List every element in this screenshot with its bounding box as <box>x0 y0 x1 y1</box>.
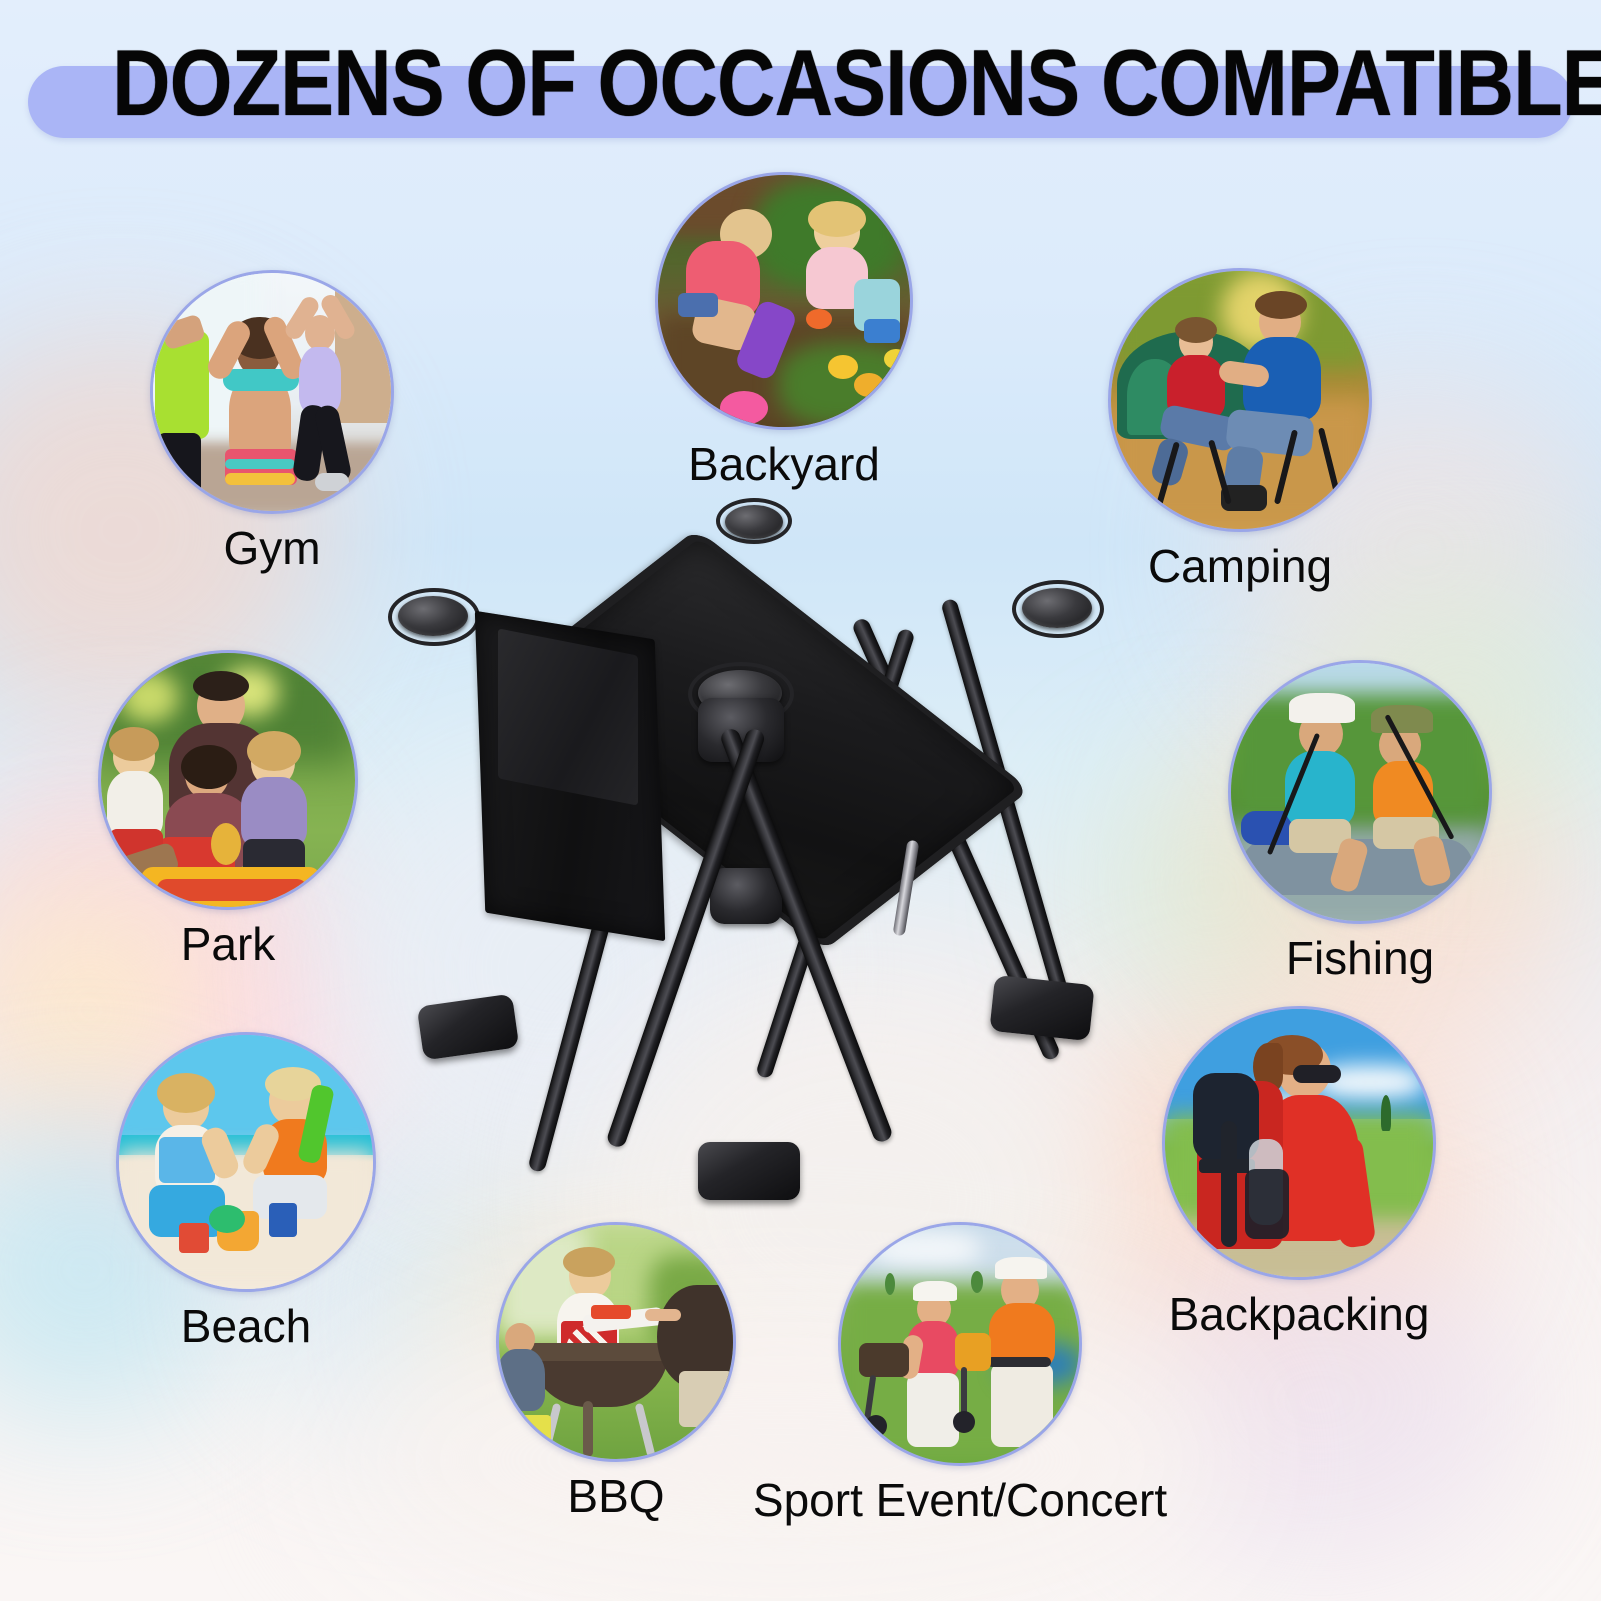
occasion-backyard[interactable]: Backyard <box>655 172 913 430</box>
caption-gym: Gym <box>223 522 320 574</box>
caption-backyard: Backyard <box>688 438 880 490</box>
caption-backpacking: Backpacking <box>1169 1288 1430 1340</box>
stool-corner-ring-right <box>1012 580 1104 638</box>
caption-bbq: BBQ <box>567 1470 664 1522</box>
backyard-photo <box>655 172 913 430</box>
occasion-beach[interactable]: Beach <box>116 1032 376 1292</box>
stool-corner-ring-far <box>716 498 792 544</box>
caption-beach: Beach <box>181 1300 311 1352</box>
stool-foot-front <box>698 1142 800 1200</box>
bbq-photo <box>496 1222 736 1462</box>
occasion-sport-concert[interactable]: Sport Event/Concert <box>838 1222 1082 1466</box>
caption-sport-concert: Sport Event/Concert <box>753 1474 1167 1526</box>
caption-camping: Camping <box>1148 540 1332 592</box>
stool-pocket-panel <box>498 628 638 805</box>
beach-photo <box>116 1032 376 1292</box>
fishing-photo <box>1228 660 1492 924</box>
stool-corner-ring-left <box>388 588 480 646</box>
page-title: DOZENS OF OCCASIONS COMPATIBLE <box>112 36 1489 130</box>
golf-photo <box>838 1222 1082 1466</box>
stool-center-hub-mid <box>710 868 782 924</box>
park-photo <box>98 650 358 910</box>
occasion-park[interactable]: Park <box>98 650 358 910</box>
product-image-folding-stool <box>380 480 1140 1230</box>
stool-foot-left <box>417 994 520 1061</box>
infographic-poster: DOZENS OF OCCASIONS COMPATIBLE <box>0 0 1601 1601</box>
backpacking-photo <box>1162 1006 1436 1280</box>
gym-photo <box>150 270 394 514</box>
camping-photo <box>1108 268 1372 532</box>
caption-fishing: Fishing <box>1286 932 1434 984</box>
occasion-gym[interactable]: Gym <box>150 270 394 514</box>
occasion-camping[interactable]: Camping <box>1108 268 1372 532</box>
occasion-fishing[interactable]: Fishing <box>1228 660 1492 924</box>
occasion-bbq[interactable]: BBQ <box>496 1222 736 1462</box>
caption-park: Park <box>181 918 276 970</box>
occasion-backpacking[interactable]: Backpacking <box>1162 1006 1436 1280</box>
stool-foot-right <box>989 975 1094 1041</box>
